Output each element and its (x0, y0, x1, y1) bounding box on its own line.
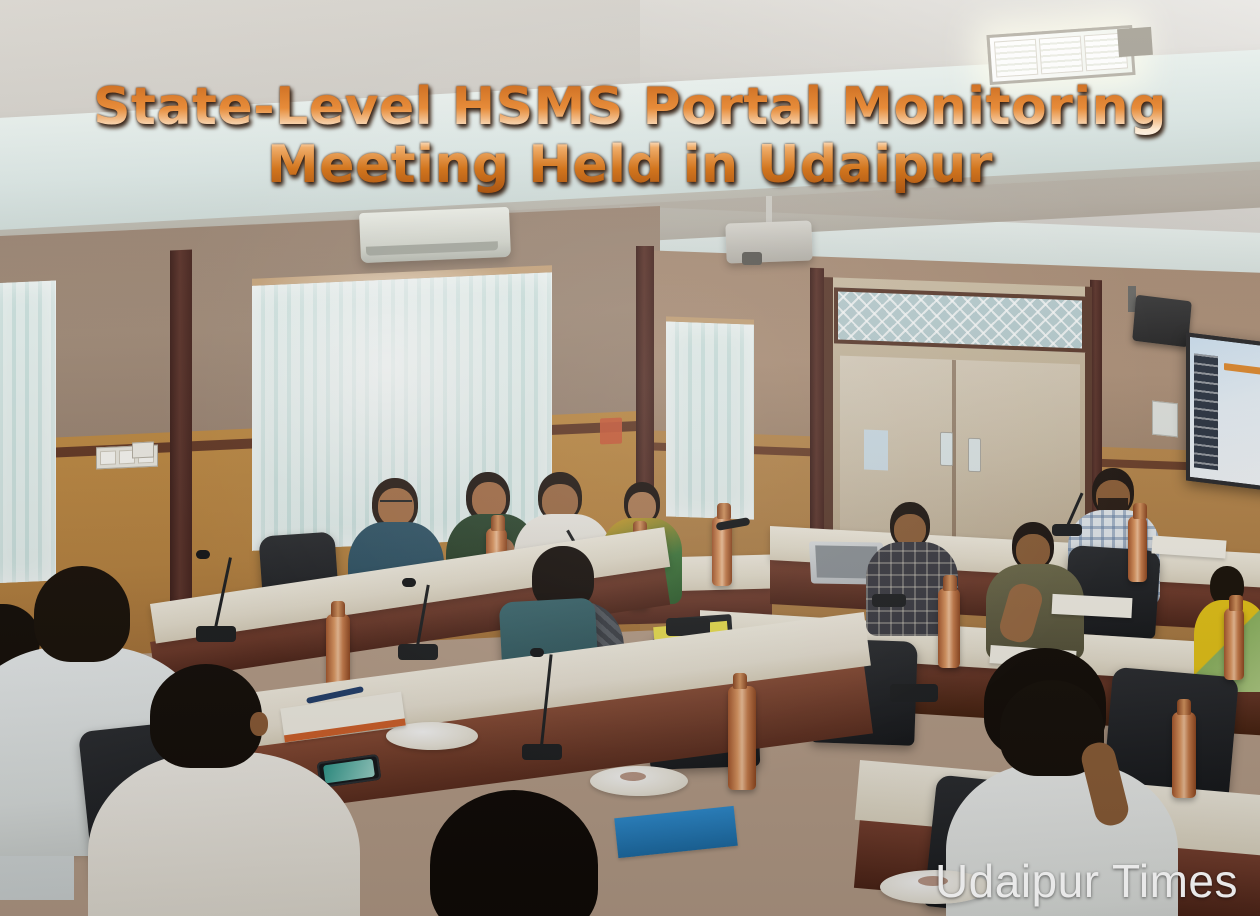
microphone-base (398, 644, 438, 660)
serving-plate (386, 722, 478, 750)
head (430, 790, 598, 916)
face (472, 482, 506, 518)
led-panel-mount (1117, 27, 1153, 57)
display-screen-icon (1186, 332, 1260, 491)
door-handle (940, 432, 953, 466)
news-photo: State-Level HSMS Portal Monitoring Meeti… (0, 0, 1260, 916)
head (150, 664, 262, 768)
copper-water-bottle (1224, 608, 1244, 680)
lattice-transom (834, 287, 1086, 352)
light-switch (132, 442, 154, 459)
microphone-base (890, 684, 938, 702)
page-title: State-Level HSMS Portal Monitoring Meeti… (0, 78, 1260, 194)
microphone-base (872, 594, 906, 607)
door-notice-sticker (864, 430, 888, 471)
head (34, 566, 130, 662)
blue-folder (614, 806, 738, 858)
window-blinds (0, 281, 56, 584)
copper-water-bottle (1128, 516, 1147, 582)
microphone-base (522, 744, 562, 760)
glasses-icon (380, 500, 412, 507)
microphone-head (402, 578, 416, 587)
watermark: Udaipur Times (935, 854, 1238, 908)
microphone-base (196, 626, 236, 642)
display-screen-sidebar (1194, 353, 1218, 470)
copper-water-bottle (1172, 712, 1196, 798)
serving-plate (590, 766, 688, 796)
wall-plate (1152, 401, 1178, 438)
plate-food (620, 772, 646, 781)
copper-water-bottle (728, 686, 756, 790)
torso (88, 752, 360, 916)
face (378, 488, 414, 526)
wall-marker (600, 418, 622, 445)
ceiling-projector-icon (725, 221, 812, 264)
door-handle (968, 438, 981, 472)
wall-trim-post (810, 268, 824, 569)
microphone-head (196, 550, 210, 559)
paper-sheet (1052, 594, 1133, 618)
microphone-head (530, 648, 544, 657)
ear (250, 712, 268, 736)
face (1016, 534, 1050, 568)
projector-lens (742, 252, 762, 265)
window-blinds (666, 316, 754, 519)
wall-speaker-icon (1132, 295, 1192, 348)
copper-water-bottle (938, 588, 960, 668)
